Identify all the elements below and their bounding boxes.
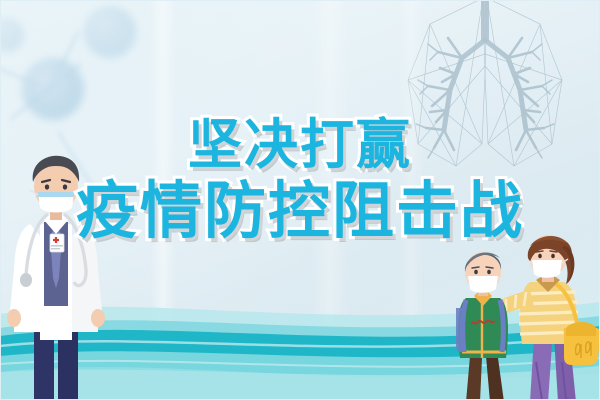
- molecule-atom-icon: [22, 58, 84, 120]
- headline-line-2: 疫情防控阻击战: [0, 180, 600, 242]
- headline-line-1: 坚决打赢: [0, 118, 600, 172]
- poster-canvas: 坚决打赢 疫情防控阻击战: [0, 0, 600, 400]
- molecule-atom-icon: [84, 6, 136, 58]
- boy-figure: [456, 252, 508, 400]
- molecule-atom-icon: [0, 18, 24, 52]
- boy-pants: [466, 356, 482, 400]
- boy-mask: [468, 276, 498, 293]
- mother-mask: [532, 260, 562, 278]
- headline-block: 坚决打赢 疫情防控阻击战: [0, 118, 600, 242]
- doctor-hand: [7, 309, 21, 327]
- family-figures: [456, 232, 600, 400]
- doctor-hand: [91, 309, 105, 327]
